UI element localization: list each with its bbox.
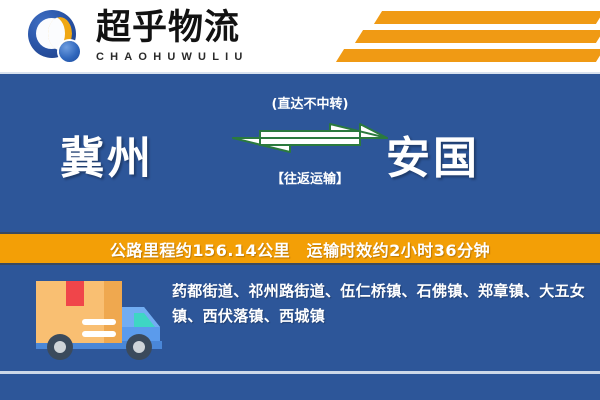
stripe-2: [355, 30, 600, 43]
brand-logo-icon: [28, 10, 86, 66]
round-trip-note: 【往返运输】: [230, 168, 390, 187]
route-middle-group: (直达不中转) 【往返运输】: [230, 86, 390, 216]
header-stripes-decoration: [340, 0, 600, 72]
distance-duration-bar: 公路里程约156.14公里 运输时效约2小时36分钟: [0, 232, 600, 265]
stripe-1: [374, 11, 600, 24]
destination-city: 安国: [386, 122, 480, 186]
coverage-panel: 药都街道、祁州路街道、伍仁桥镇、石佛镇、郑章镇、大五女镇、西伏落镇、西城镇: [0, 265, 600, 400]
origin-city: 冀州: [60, 122, 154, 186]
double-headed-arrow-icon: [230, 118, 390, 158]
distance-duration-text: 公路里程约156.14公里 运输时效约2小时36分钟: [110, 237, 490, 261]
brand-name-cn: 超乎物流: [96, 8, 286, 48]
logistics-route-poster: 超乎物流 CHAOHUWULIU 冀州 (直达不中转): [0, 0, 600, 400]
bottom-divider: [0, 371, 600, 374]
delivery-truck-icon: [26, 277, 174, 363]
direct-shipping-note: (直达不中转): [230, 93, 390, 112]
stripe-3: [336, 49, 600, 62]
brand-name-en: CHAOHUWULIU: [96, 50, 286, 64]
logo-dot-icon: [59, 41, 80, 62]
coverage-areas-text: 药都街道、祁州路街道、伍仁桥镇、石佛镇、郑章镇、大五女镇、西伏落镇、西城镇: [172, 279, 586, 329]
route-panel: 冀州 (直达不中转) 【往返运输】 安国: [0, 72, 600, 234]
poster-header: 超乎物流 CHAOHUWULIU: [0, 0, 600, 72]
brand-wordmark: 超乎物流 CHAOHUWULIU: [96, 8, 286, 64]
